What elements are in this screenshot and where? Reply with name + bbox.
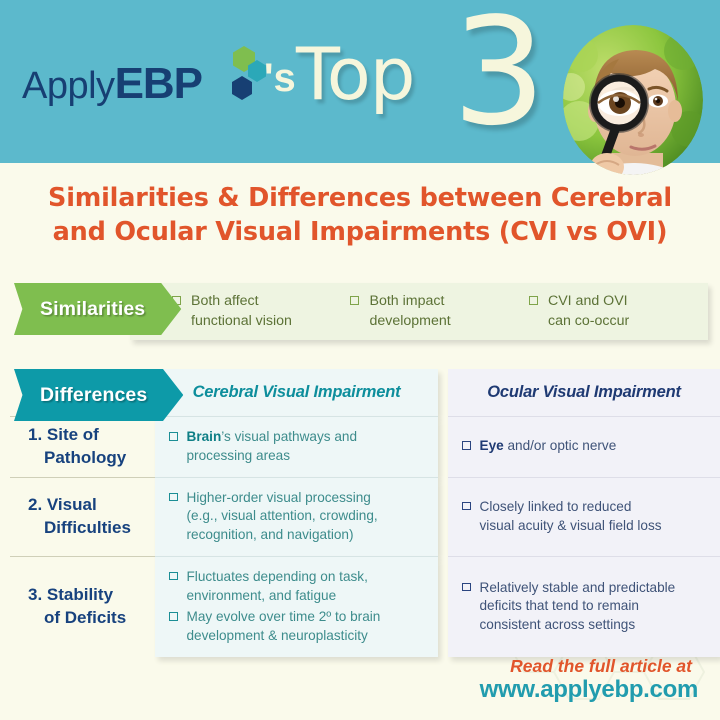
bullet-text: Brain’s visual pathways and processing a…	[187, 428, 358, 466]
similarity-item: Both impact development	[350, 292, 528, 332]
row-label-line2: Pathology	[28, 447, 126, 469]
ovi-cell: Closely linked to reduced visual acuity …	[448, 477, 720, 556]
bullet-text: May evolve over time 2º to brain develop…	[187, 608, 381, 646]
checkbox-icon	[462, 441, 471, 450]
checkbox-icon	[169, 432, 178, 441]
checkbox-icon	[462, 502, 471, 511]
similarity-item: Both affect functional vision	[172, 292, 350, 332]
differences-banner-label: Differences	[40, 384, 147, 407]
infographic-canvas: ApplyEBP 's Top 3	[0, 0, 720, 720]
ovi-header-cell: Ocular Visual Impairment	[448, 369, 720, 416]
cvi-cell: Brain’s visual pathways and processing a…	[155, 416, 438, 477]
row-label: 2. Visual Difficulties	[16, 494, 131, 539]
table-row: 2. Visual Difficulties Higher-order visu…	[10, 477, 710, 556]
checkbox-icon	[529, 296, 538, 305]
similarity-item: CVI and OVI can co-occur	[529, 292, 707, 332]
ovi-column-header: Ocular Visual Impairment	[487, 383, 681, 402]
checkbox-icon	[169, 572, 178, 581]
cvi-header-cell: Cerebral Visual Impairment	[155, 369, 438, 416]
bullet-bold-word: Eye	[480, 438, 504, 453]
cvi-cell: Higher-order visual processing (e.g., vi…	[155, 477, 438, 556]
bullet-rest-text: Fluctuates depending on task, environmen…	[187, 569, 368, 603]
row-label-line1: 3. Stability	[28, 585, 113, 604]
similarities-banner: Similarities	[14, 283, 181, 335]
bullet-text: Fluctuates depending on task, environmen…	[187, 568, 368, 606]
logo-ebp-text: EBP	[115, 62, 202, 106]
row-label-line1: 1. Site of	[28, 425, 99, 444]
bullet-rest-text: Relatively stable and predictable defici…	[480, 580, 676, 633]
bullet-item: Relatively stable and predictable defici…	[462, 579, 706, 635]
bullet-item: Eye and/or optic nerve	[462, 437, 706, 456]
checkbox-icon	[350, 296, 359, 305]
cvi-cell-content: Higher-order visual processing (e.g., vi…	[155, 477, 438, 556]
bullet-item: Brain’s visual pathways and processing a…	[169, 428, 424, 466]
bullet-text: Relatively stable and predictable defici…	[480, 579, 676, 635]
child-magnifying-glass-photo	[563, 25, 703, 175]
bullet-text: Eye and/or optic nerve	[480, 437, 617, 456]
bullet-item: Fluctuates depending on task, environmen…	[169, 568, 424, 606]
row-label: 1. Site of Pathology	[16, 424, 126, 469]
bullet-text: Closely linked to reduced visual acuity …	[480, 498, 662, 536]
similarity-text: CVI and OVI can co-occur	[548, 292, 629, 332]
title-line-1: Similarities & Differences between Cereb…	[0, 182, 720, 216]
bullet-rest-text: May evolve over time 2º to brain develop…	[187, 609, 381, 643]
ovi-cell-content: Closely linked to reduced visual acuity …	[448, 477, 720, 556]
row-label-line2: of Deficits	[28, 607, 126, 629]
row-label-line2: Difficulties	[28, 517, 131, 539]
checkbox-icon	[169, 493, 178, 502]
bullet-item: Closely linked to reduced visual acuity …	[462, 498, 706, 536]
top-number-text: 3	[452, 0, 546, 146]
header-band: ApplyEBP 's Top 3	[0, 0, 720, 163]
cvi-cell-content: Brain’s visual pathways and processing a…	[155, 416, 438, 477]
ovi-cell-content: Relatively stable and predictable defici…	[448, 556, 720, 657]
similarities-panel: Both affect functional vision Both impac…	[130, 283, 708, 340]
row-label-cell: 2. Visual Difficulties	[10, 477, 155, 556]
page-title: Similarities & Differences between Cereb…	[0, 182, 720, 249]
bullet-rest-text: and/or optic nerve	[504, 438, 617, 453]
cvi-cell-content: Fluctuates depending on task, environmen…	[155, 556, 438, 657]
website-url-link[interactable]: www.applyebp.com	[480, 676, 698, 704]
bullet-rest-text: Higher-order visual processing (e.g., vi…	[187, 490, 378, 543]
ovi-cell: Eye and/or optic nerve	[448, 416, 720, 477]
table-row: 1. Site of Pathology Brain’s visual path…	[10, 416, 710, 477]
logo-apostrophe-s: 's	[264, 58, 296, 98]
row-label-cell: 3. Stability of Deficits	[10, 556, 155, 657]
row-label-cell: 1. Site of Pathology	[10, 416, 155, 477]
row-label: 3. Stability of Deficits	[16, 584, 126, 629]
logo-apply-text: Apply	[22, 67, 115, 105]
top-word-text: Top	[296, 38, 415, 110]
similarity-text: Both affect functional vision	[191, 292, 292, 332]
cvi-column-header: Cerebral Visual Impairment	[193, 383, 401, 402]
title-line-2: and Ocular Visual Impairments (CVI vs OV…	[0, 216, 720, 250]
ovi-cell-content: Eye and/or optic nerve	[448, 416, 720, 477]
applyebp-logo[interactable]: ApplyEBP	[22, 62, 202, 106]
similarities-banner-label: Similarities	[40, 298, 145, 321]
bullet-text: Higher-order visual processing (e.g., vi…	[187, 489, 378, 545]
similarities-items: Both affect functional vision Both impac…	[130, 292, 708, 332]
checkbox-icon	[169, 612, 178, 621]
footer: Read the full article at www.applyebp.co…	[480, 656, 698, 704]
similarity-text: Both impact development	[369, 292, 450, 332]
bullet-bold-word: Brain	[187, 429, 222, 444]
read-article-text: Read the full article at	[480, 656, 698, 676]
ovi-cell: Relatively stable and predictable defici…	[448, 556, 720, 657]
row-label-line1: 2. Visual	[28, 495, 97, 514]
table-row: 3. Stability of Deficits Fluctuates depe…	[10, 556, 710, 657]
logo-hexagon-cluster-icon	[222, 44, 266, 106]
differences-banner: Differences	[14, 369, 183, 421]
bullet-rest-text: Closely linked to reduced visual acuity …	[480, 499, 662, 533]
checkbox-icon	[462, 583, 471, 592]
bullet-item: Higher-order visual processing (e.g., vi…	[169, 489, 424, 545]
bullet-item: May evolve over time 2º to brain develop…	[169, 608, 424, 646]
cvi-cell: Fluctuates depending on task, environmen…	[155, 556, 438, 657]
